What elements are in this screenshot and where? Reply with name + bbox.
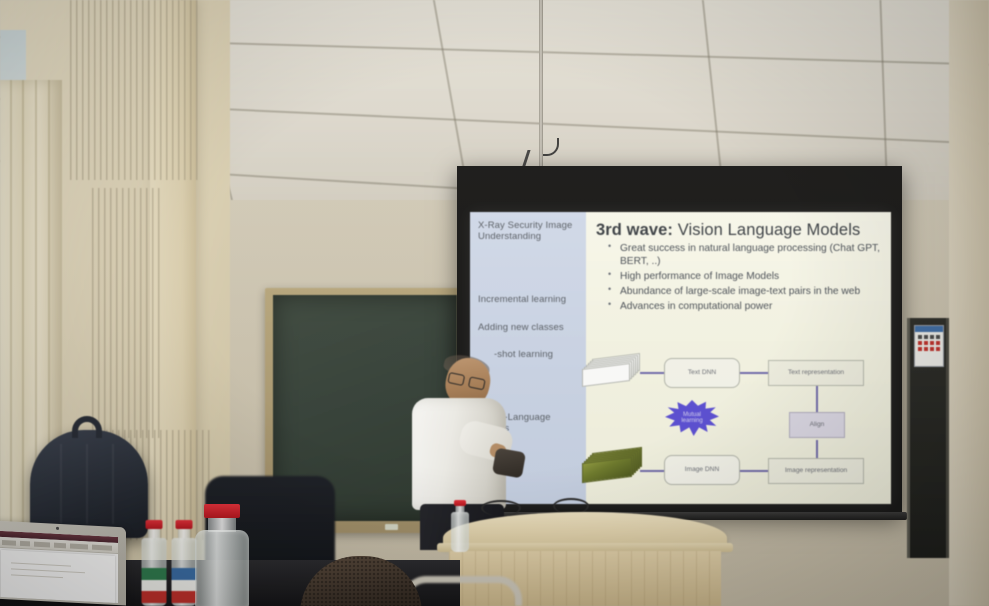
slide-bullet: Advances in computational power (610, 300, 883, 313)
presenter-handheld-device (492, 448, 526, 479)
text-document-stack-icon (582, 356, 640, 382)
slide-title: 3rd wave: Vision Language Models (596, 221, 883, 240)
water-bottle (193, 504, 251, 606)
connector-imgstack-to-imagednn (640, 470, 666, 472)
slide-title-rest: Vision Language Models (673, 221, 860, 239)
water-bottle (450, 500, 470, 552)
slide-bullet-list: Great success in natural language proces… (596, 242, 883, 313)
xray-image-stack-icon (582, 450, 640, 476)
laptop-screen[interactable] (0, 531, 118, 603)
sign-text-rows (918, 335, 940, 353)
ribbed-wall-panel-mid (92, 188, 160, 438)
slide-sidebar-item-xray: X-Ray Security Image Understanding (478, 220, 580, 242)
slide-content: 3rd wave: Vision Language Models Great s… (586, 212, 891, 504)
lecture-hall-photo: X-Ray Security Image Understanding Incre… (0, 0, 989, 606)
backpack-handle (72, 416, 102, 438)
diagram-box-align: Align (789, 412, 845, 438)
slide-diagram: Text DNN Text representation Align Image… (586, 352, 891, 500)
slide-bullet: Abundance of large-scale image-text pair… (610, 285, 883, 298)
mutual-learning-starburst: Mutual learning (665, 400, 719, 436)
right-wall (949, 0, 989, 606)
laptop-lid (0, 521, 126, 606)
projected-slide: X-Ray Security Image Understanding Incre… (470, 212, 891, 504)
mutual-learning-line2: learning (681, 418, 702, 424)
slide-title-prefix: 3rd wave: (596, 221, 673, 239)
slide-sidebar-item-adding-classes: Adding new classes (478, 322, 580, 333)
backpack (30, 430, 148, 538)
mutual-learning-line1: Mutual (683, 412, 701, 418)
connector-textdnn-to-textrep (738, 372, 770, 374)
laptop[interactable] (0, 524, 130, 606)
laptop-webcam-icon (56, 527, 59, 530)
diagram-box-image-representation: Image representation (768, 458, 864, 484)
wall-notice-sign (914, 325, 944, 367)
diagram-box-text-representation: Text representation (768, 360, 864, 386)
cable-loop (481, 500, 521, 516)
connector-textrep-to-align (816, 384, 818, 414)
slide-bullet: High performance of Image Models (610, 270, 883, 283)
ribbed-wall-panel-upper (70, 0, 200, 180)
connector-imagednn-to-imagerep (738, 470, 770, 472)
diagram-box-text-dnn: Text DNN (664, 358, 740, 388)
diagram-box-image-dnn: Image DNN (664, 455, 740, 485)
document-page[interactable] (1, 550, 115, 603)
chalk-piece (385, 524, 398, 530)
water-bottle (140, 520, 168, 606)
sign-header-bar (915, 326, 943, 332)
slide-sidebar-item-incremental: Incremental learning (478, 294, 580, 305)
connector-textstack-to-textdnn (640, 372, 666, 374)
slide-bullet: Great success in natural language proces… (610, 242, 883, 269)
